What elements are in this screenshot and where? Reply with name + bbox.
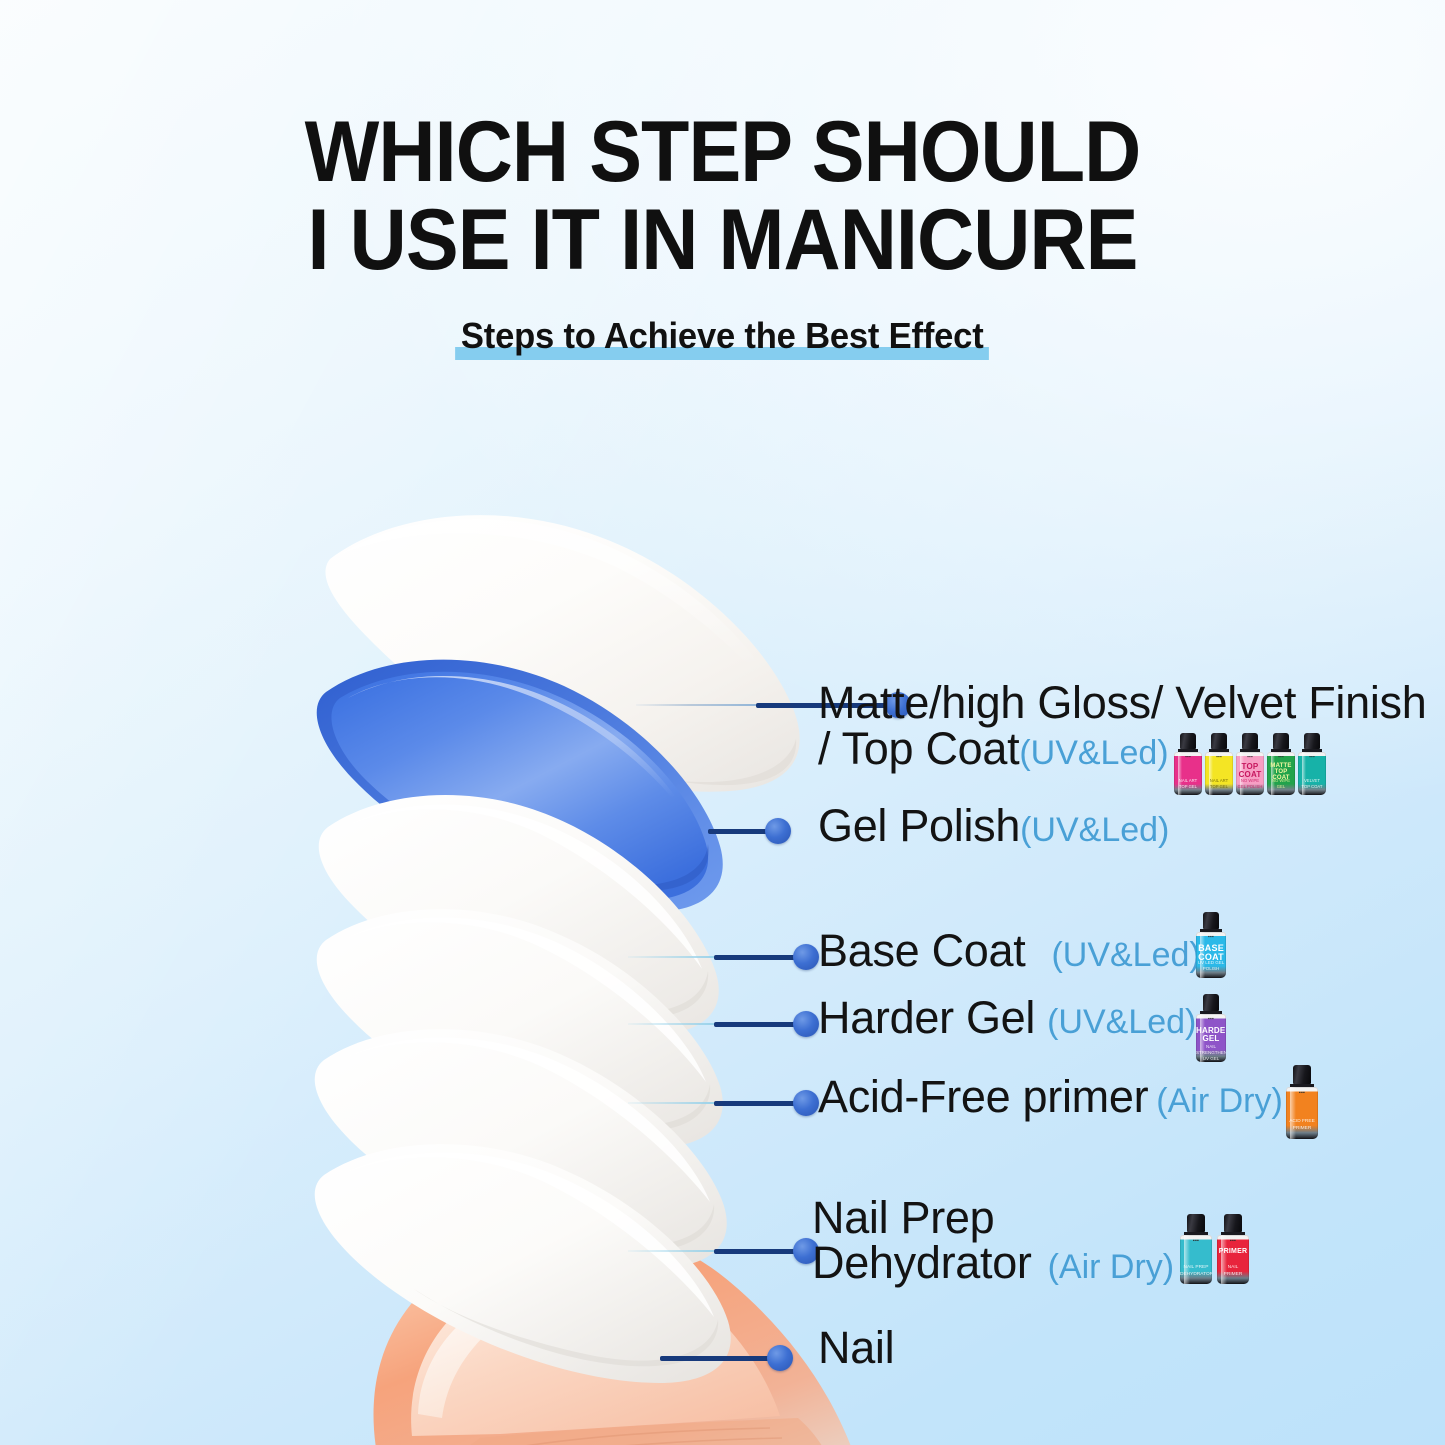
- bottle-cap-icon: [1304, 733, 1319, 749]
- matte-finish-bottle: ▪▪▪NAIL ART TOP GEL: [1174, 733, 1202, 795]
- label-top-coat-line1: Matte/high Gloss/ Velvet Finish: [818, 680, 1426, 726]
- bottle-brand-mark: ▪▪▪: [1267, 754, 1295, 759]
- label-gel-polish-text: Gel Polish: [818, 800, 1020, 851]
- acid-free-primer-bottle: ▪▪▪ACID FREE PRIMER: [1286, 1065, 1318, 1139]
- primer-bottle: ▪▪▪PRIMERNAIL PRIMER: [1217, 1214, 1249, 1284]
- label-top-coat: Matte/high Gloss/ Velvet Finish / Top Co…: [818, 680, 1426, 772]
- connector-dot: [767, 1345, 793, 1371]
- bottles-acid-free-primer: ▪▪▪ACID FREE PRIMER: [1286, 1065, 1318, 1139]
- connector-bar: [660, 1356, 770, 1361]
- bottles-base-coat: ▪▪▪BASE COATUV LED GEL POLISH: [1196, 912, 1226, 978]
- title-line-2: I USE IT IN MANICURE: [58, 194, 1387, 282]
- label-harder-gel: Harder Gel(UV&Led): [818, 995, 1196, 1041]
- bottle-brand-mark: ▪▪▪: [1236, 754, 1264, 759]
- label-nail-prep-dehydrator: Nail Prep Dehydrator(Air Dry): [812, 1195, 1174, 1285]
- bottle-subtitle: NO WIPE GEL POLISH: [1236, 778, 1264, 789]
- connector-bar: [708, 829, 768, 834]
- label-nail: Nail: [818, 1325, 894, 1371]
- label-gel-polish-cure: (UV&Led): [1020, 811, 1169, 849]
- connector-acid-free-primer: [628, 1090, 819, 1116]
- label-gel-polish: Gel Polish(UV&Led): [818, 803, 1169, 849]
- bottles-harder-gel: ▪▪▪HARDER GELNAIL STRENGTHEN UV GEL: [1196, 994, 1226, 1062]
- bottle-brand-mark: ▪▪▪: [1196, 935, 1226, 940]
- bottle-cap-icon: [1293, 1065, 1311, 1084]
- label-acid-free-primer: Acid-Free primer(Air Dry): [818, 1074, 1283, 1120]
- bottle-cap-icon: [1211, 733, 1226, 749]
- page-title: WHICH STEP SHOULD I USE IT IN MANICURE: [58, 0, 1387, 281]
- connector-inner-line: [636, 704, 756, 706]
- bottle-body: ▪▪▪NAIL PREP DEHYDRATOR: [1180, 1235, 1212, 1284]
- label-nail-prep-line2: Dehydrator: [812, 1237, 1032, 1288]
- bottle-title: PRIMER: [1217, 1248, 1249, 1255]
- label-acid-free-primer-cure: (Air Dry): [1156, 1082, 1283, 1120]
- connector-harder-gel: [628, 1011, 819, 1037]
- connector-bar: [714, 955, 796, 960]
- label-nail-prep-cure: (Air Dry): [1048, 1248, 1175, 1286]
- bottle-subtitle: ACID FREE PRIMER: [1286, 1119, 1318, 1132]
- bottle-subtitle: NAIL ART TOP GEL: [1174, 778, 1202, 789]
- velvet-finish-bottle: ▪▪▪VELVET TOP COAT: [1298, 733, 1326, 795]
- harder-gel-bottle: ▪▪▪HARDER GELNAIL STRENGTHEN UV GEL: [1196, 994, 1226, 1062]
- bottle-body: ▪▪▪HARDER GELNAIL STRENGTHEN UV GEL: [1196, 1014, 1226, 1062]
- bottle-body: ▪▪▪ACID FREE PRIMER: [1286, 1087, 1318, 1139]
- connector-dot: [765, 818, 791, 844]
- subtitle-text: Steps to Achieve the Best Effect: [461, 315, 984, 356]
- bottles-top-coat: ▪▪▪NAIL ART TOP GEL▪▪▪NAIL ART TOP GEL▪▪…: [1174, 733, 1326, 795]
- bottle-cap-icon: [1273, 733, 1288, 749]
- title-line-1: WHICH STEP SHOULD: [58, 0, 1387, 194]
- bottle-body: ▪▪▪NAIL ART TOP GEL: [1205, 752, 1233, 795]
- label-base-coat-text: Base Coat: [818, 925, 1025, 976]
- bottle-brand-mark: ▪▪▪: [1217, 1238, 1249, 1244]
- gloss-finish-bottle: ▪▪▪NAIL ART TOP GEL: [1205, 733, 1233, 795]
- bottle-cap-icon: [1242, 733, 1257, 749]
- bottle-body: ▪▪▪PRIMERNAIL PRIMER: [1217, 1235, 1249, 1284]
- connector-base-coat: [628, 944, 819, 970]
- bottle-title: HARDER GEL: [1196, 1027, 1226, 1043]
- bottle-subtitle: NAIL PREP DEHYDRATOR: [1180, 1265, 1212, 1278]
- bottle-cap-icon: [1224, 1214, 1242, 1232]
- bottle-body: ▪▪▪VELVET TOP COAT: [1298, 752, 1326, 795]
- connector-bar: [714, 1101, 796, 1106]
- label-acid-free-primer-text: Acid-Free primer: [818, 1071, 1148, 1122]
- label-base-coat-cure: (UV&Led): [1051, 936, 1200, 974]
- connector-dot: [793, 1090, 819, 1116]
- bottle-title: TOP COAT: [1236, 763, 1264, 779]
- bottle-subtitle: NAIL PRIMER: [1217, 1265, 1249, 1278]
- bottle-subtitle: NO WIPE GEL: [1267, 778, 1295, 789]
- base-coat-bottle: ▪▪▪BASE COATUV LED GEL POLISH: [1196, 912, 1226, 978]
- connector-dot: [793, 944, 819, 970]
- header: WHICH STEP SHOULD I USE IT IN MANICURE S…: [0, 0, 1445, 361]
- label-harder-gel-text: Harder Gel: [818, 992, 1035, 1043]
- bottles-nail-prep-dehydrator: ▪▪▪NAIL PREP DEHYDRATOR▪▪▪PRIMERNAIL PRI…: [1180, 1214, 1249, 1284]
- matte-top-coat-bottle: ▪▪▪MATTE TOP COATNO WIPE GEL: [1267, 733, 1295, 795]
- bottle-body: ▪▪▪BASE COATUV LED GEL POLISH: [1196, 932, 1226, 978]
- bottle-brand-mark: ▪▪▪: [1174, 754, 1202, 759]
- bottle-cap-icon: [1180, 733, 1195, 749]
- bottle-brand-mark: ▪▪▪: [1286, 1090, 1318, 1096]
- label-base-coat: Base Coat(UV&Led): [818, 928, 1201, 974]
- bottle-body: ▪▪▪MATTE TOP COATNO WIPE GEL: [1267, 752, 1295, 795]
- bottle-brand-mark: ▪▪▪: [1205, 754, 1233, 759]
- connector-inner-line: [628, 1023, 714, 1025]
- bottle-body: ▪▪▪TOP COATNO WIPE GEL POLISH: [1236, 752, 1264, 795]
- bottle-cap-icon: [1203, 994, 1220, 1011]
- connector-bar: [714, 1249, 796, 1254]
- infographic-canvas: WHICH STEP SHOULD I USE IT IN MANICURE S…: [0, 0, 1445, 1445]
- bottle-cap-icon: [1203, 912, 1220, 929]
- bottle-subtitle: NAIL STRENGTHEN UV GEL: [1196, 1044, 1226, 1062]
- connector-nail-prep-dehydrator: [628, 1238, 819, 1264]
- connector-dot: [793, 1011, 819, 1037]
- page-subtitle: Steps to Achieve the Best Effect: [455, 315, 989, 361]
- bottle-cap-icon: [1187, 1214, 1205, 1232]
- bottle-brand-mark: ▪▪▪: [1298, 754, 1326, 759]
- connector-gel-polish: [708, 818, 791, 844]
- connector-nail: [660, 1345, 793, 1371]
- label-nail-prep-line1: Nail Prep: [812, 1195, 1174, 1240]
- bottle-subtitle: UV LED GEL POLISH: [1196, 960, 1226, 972]
- connector-bar: [714, 1022, 796, 1027]
- bottle-subtitle: VELVET TOP COAT: [1298, 778, 1326, 789]
- nail-prep-dehydrator-bottle: ▪▪▪NAIL PREP DEHYDRATOR: [1180, 1214, 1212, 1284]
- connector-inner-line: [628, 1102, 714, 1104]
- bottle-subtitle: NAIL ART TOP GEL: [1205, 778, 1233, 789]
- label-top-coat-cure: (UV&Led): [1019, 734, 1168, 772]
- connector-inner-line: [628, 1250, 714, 1252]
- bottle-brand-mark: ▪▪▪: [1180, 1238, 1212, 1244]
- bottle-brand-mark: ▪▪▪: [1196, 1017, 1226, 1022]
- label-harder-gel-cure: (UV&Led): [1047, 1003, 1196, 1041]
- label-top-coat-line2: / Top Coat: [818, 723, 1019, 774]
- connector-inner-line: [628, 956, 714, 958]
- bottle-body: ▪▪▪NAIL ART TOP GEL: [1174, 752, 1202, 795]
- top-coat-bottle: ▪▪▪TOP COATNO WIPE GEL POLISH: [1236, 733, 1264, 795]
- label-nail-text: Nail: [818, 1322, 894, 1373]
